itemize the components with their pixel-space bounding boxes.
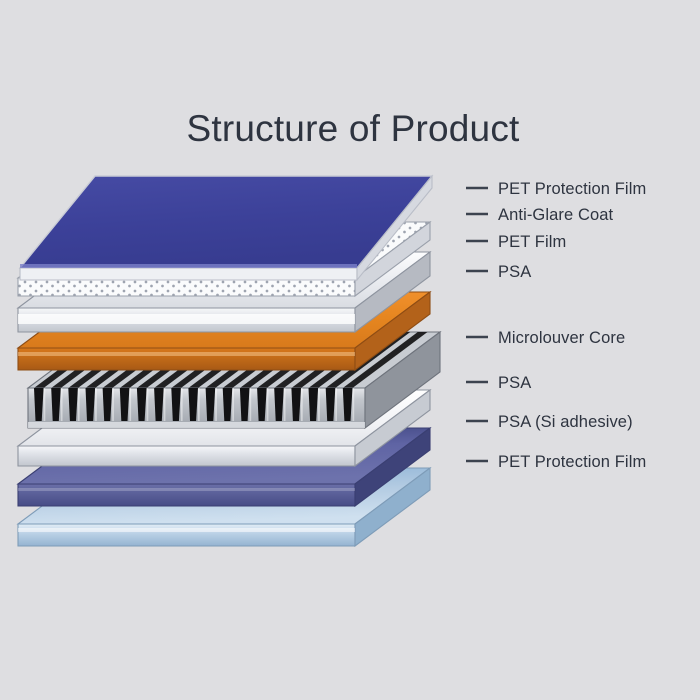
callout-label: Anti-Glare Coat [498,206,613,225]
microlouver-highlight [181,388,183,421]
callout-leader-lines [466,188,488,461]
callout-label: PSA (Si adhesive) [498,413,633,432]
microlouver-highlight [198,388,200,421]
microlouver-highlight [335,388,337,421]
microlouver-highlight [284,388,286,421]
callout-label: PET Film [498,233,566,252]
callout-label: PSA [498,374,531,393]
layer-pet-protection-film-top [20,176,432,280]
microlouver-highlight [267,388,269,421]
microlouver-highlight [164,388,166,421]
microlouver-highlight [44,388,46,421]
microlouver-highlight [112,388,114,421]
callout-label: PET Protection Film [498,180,646,199]
layer-stack-diagram [0,0,700,700]
microlouver-highlight [95,388,97,421]
microlouver-highlight [353,388,355,421]
callout-label: PET Protection Film [498,453,646,472]
microlouver-highlight [215,388,217,421]
microlouver-highlight [78,388,80,421]
microlouver-highlight [129,388,131,421]
microlouver-highlight [250,388,252,421]
diagram-stage: Structure of Product [0,0,700,700]
microlouver-highlight [232,388,234,421]
microlouver-highlight [147,388,149,421]
callout-label: Microlouver Core [498,329,625,348]
callout-label: PSA [498,263,531,282]
microlouver-highlight [318,388,320,421]
microlouver-highlight [61,388,63,421]
microlouver-highlight [301,388,303,421]
